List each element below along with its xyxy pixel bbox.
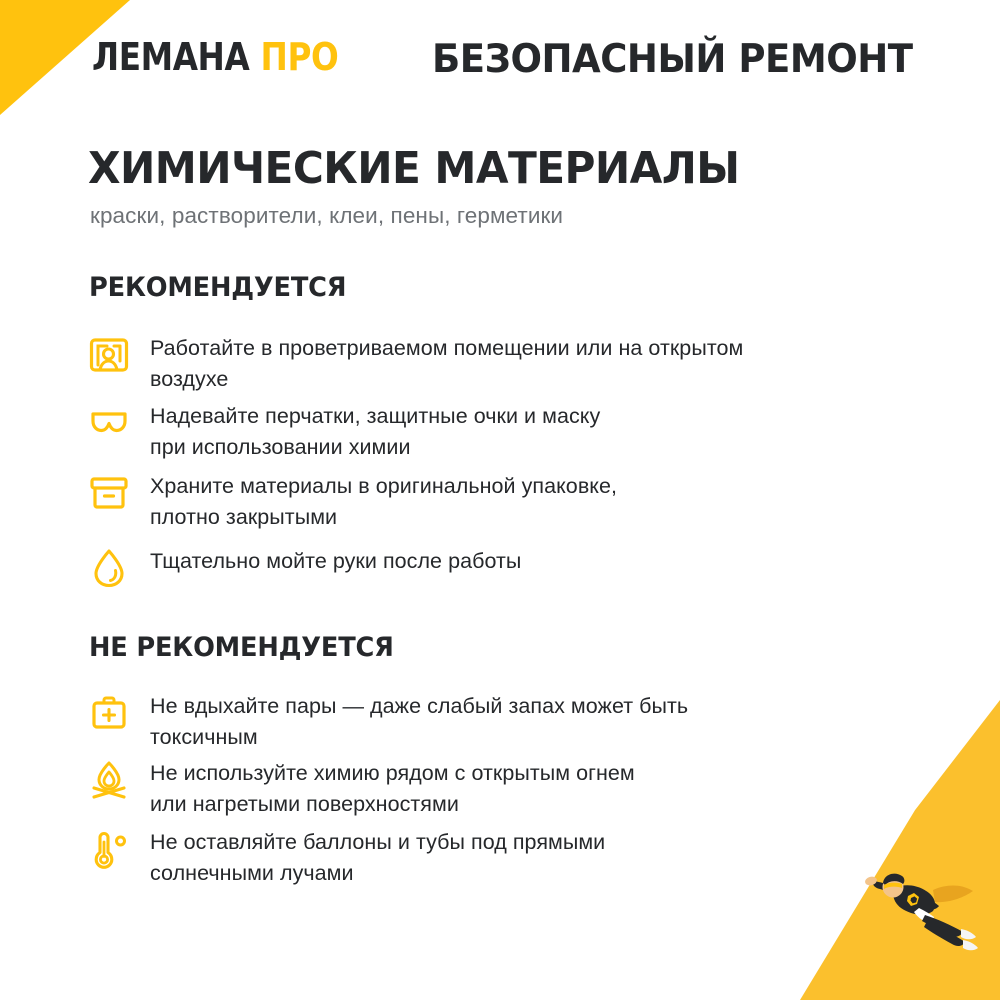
list-item: Не используйте химию рядом с открытым ог… [88,757,918,819]
water-drop-icon [88,545,150,589]
list-item-text: Храните материалы в оригинальной упаковк… [150,470,617,532]
brand-logo-pro: ПРО [261,38,339,76]
list-item-text: Не используйте химию рядом с открытым ог… [150,757,635,819]
list-item-line1: Надевайте перчатки, защитные очки и маск… [150,401,600,432]
safety-goggles-icon [88,400,150,444]
list-item: Надевайте перчатки, защитные очки и маск… [88,400,918,462]
brand-logo-main: ЛЕМАНА [92,38,249,76]
list-item-line1: Не используйте химию рядом с открытым ог… [150,758,635,789]
list-item-line1: Работайте в проветриваемом помещении или… [150,333,743,364]
list-item-text: Тщательно мойте руки после работы [150,545,521,577]
list-item-line2: солнечными лучами [150,858,605,889]
page-subtitle: краски, растворители, клеи, пены, гермет… [90,203,563,229]
list-item-line2: плотно закрытыми [150,502,617,533]
list-item: Тщательно мойте руки после работы [88,545,918,589]
campaign-title: БЕЗОПАСНЫЙ РЕМОНТ [432,36,913,85]
list-item-line2: воздухе [150,364,743,395]
list-item-line2: или нагретыми поверхностями [150,789,635,820]
list-item-text: Не оставляйте баллоны и тубы под прямыми… [150,826,605,888]
list-item: Не вдыхайте пары — даже слабый запах мож… [88,690,918,752]
first-aid-kit-icon [88,690,150,734]
ventilated-room-icon [88,332,150,376]
list-item-line1: Не вдыхайте пары — даже слабый запах мож… [150,691,688,722]
section-heading-recommended: РЕКОМЕНДУЕТСЯ [89,272,346,303]
list-item-line2: при использовании химии [150,432,600,463]
list-item-line1: Не оставляйте баллоны и тубы под прямыми [150,827,605,858]
campfire-flame-icon [88,757,150,801]
list-item-text: Не вдыхайте пары — даже слабый запах мож… [150,690,688,752]
list-item-line2: токсичным [150,722,688,753]
brand-logo[interactable]: ЛЕМАНА ПРО [92,38,338,76]
list-item-text: Работайте в проветриваемом помещении или… [150,332,743,394]
storage-box-icon [88,470,150,514]
list-item: Работайте в проветриваемом помещении или… [88,332,918,394]
page-title: ХИМИЧЕСКИЕ МАТЕРИАЛЫ [88,143,739,194]
list-item-line1: Тщательно мойте руки после работы [150,546,521,577]
thermometer-sun-icon [88,826,150,870]
section-heading-not-recommended: НЕ РЕКОМЕНДУЕТСЯ [89,632,394,663]
list-item: Храните материалы в оригинальной упаковк… [88,470,918,532]
list-item-line1: Храните материалы в оригинальной упаковк… [150,471,617,502]
list-item-text: Надевайте перчатки, защитные очки и маск… [150,400,600,462]
list-item: Не оставляйте баллоны и тубы под прямыми… [88,826,918,888]
header: ЛЕМАНА ПРО БЕЗОПАСНЫЙ РЕМОНТ [0,38,1000,90]
